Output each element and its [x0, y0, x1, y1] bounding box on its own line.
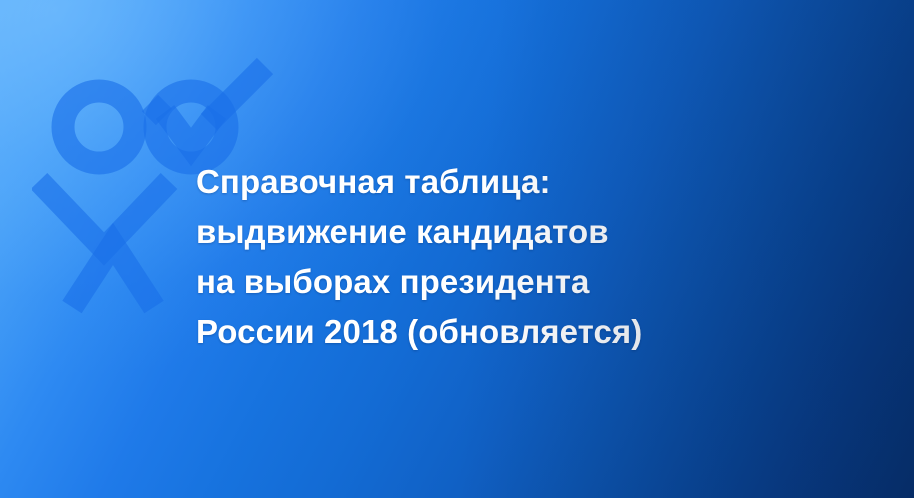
- checkmark-stub-diagonal: [150, 103, 164, 117]
- legs-lambda-shape: [72, 244, 154, 307]
- left-eye-ring: [63, 91, 135, 163]
- banner-headline: Справочная таблица: выдвижение кандидато…: [196, 157, 836, 357]
- promo-banner: Справочная таблица: выдвижение кандидато…: [0, 0, 914, 498]
